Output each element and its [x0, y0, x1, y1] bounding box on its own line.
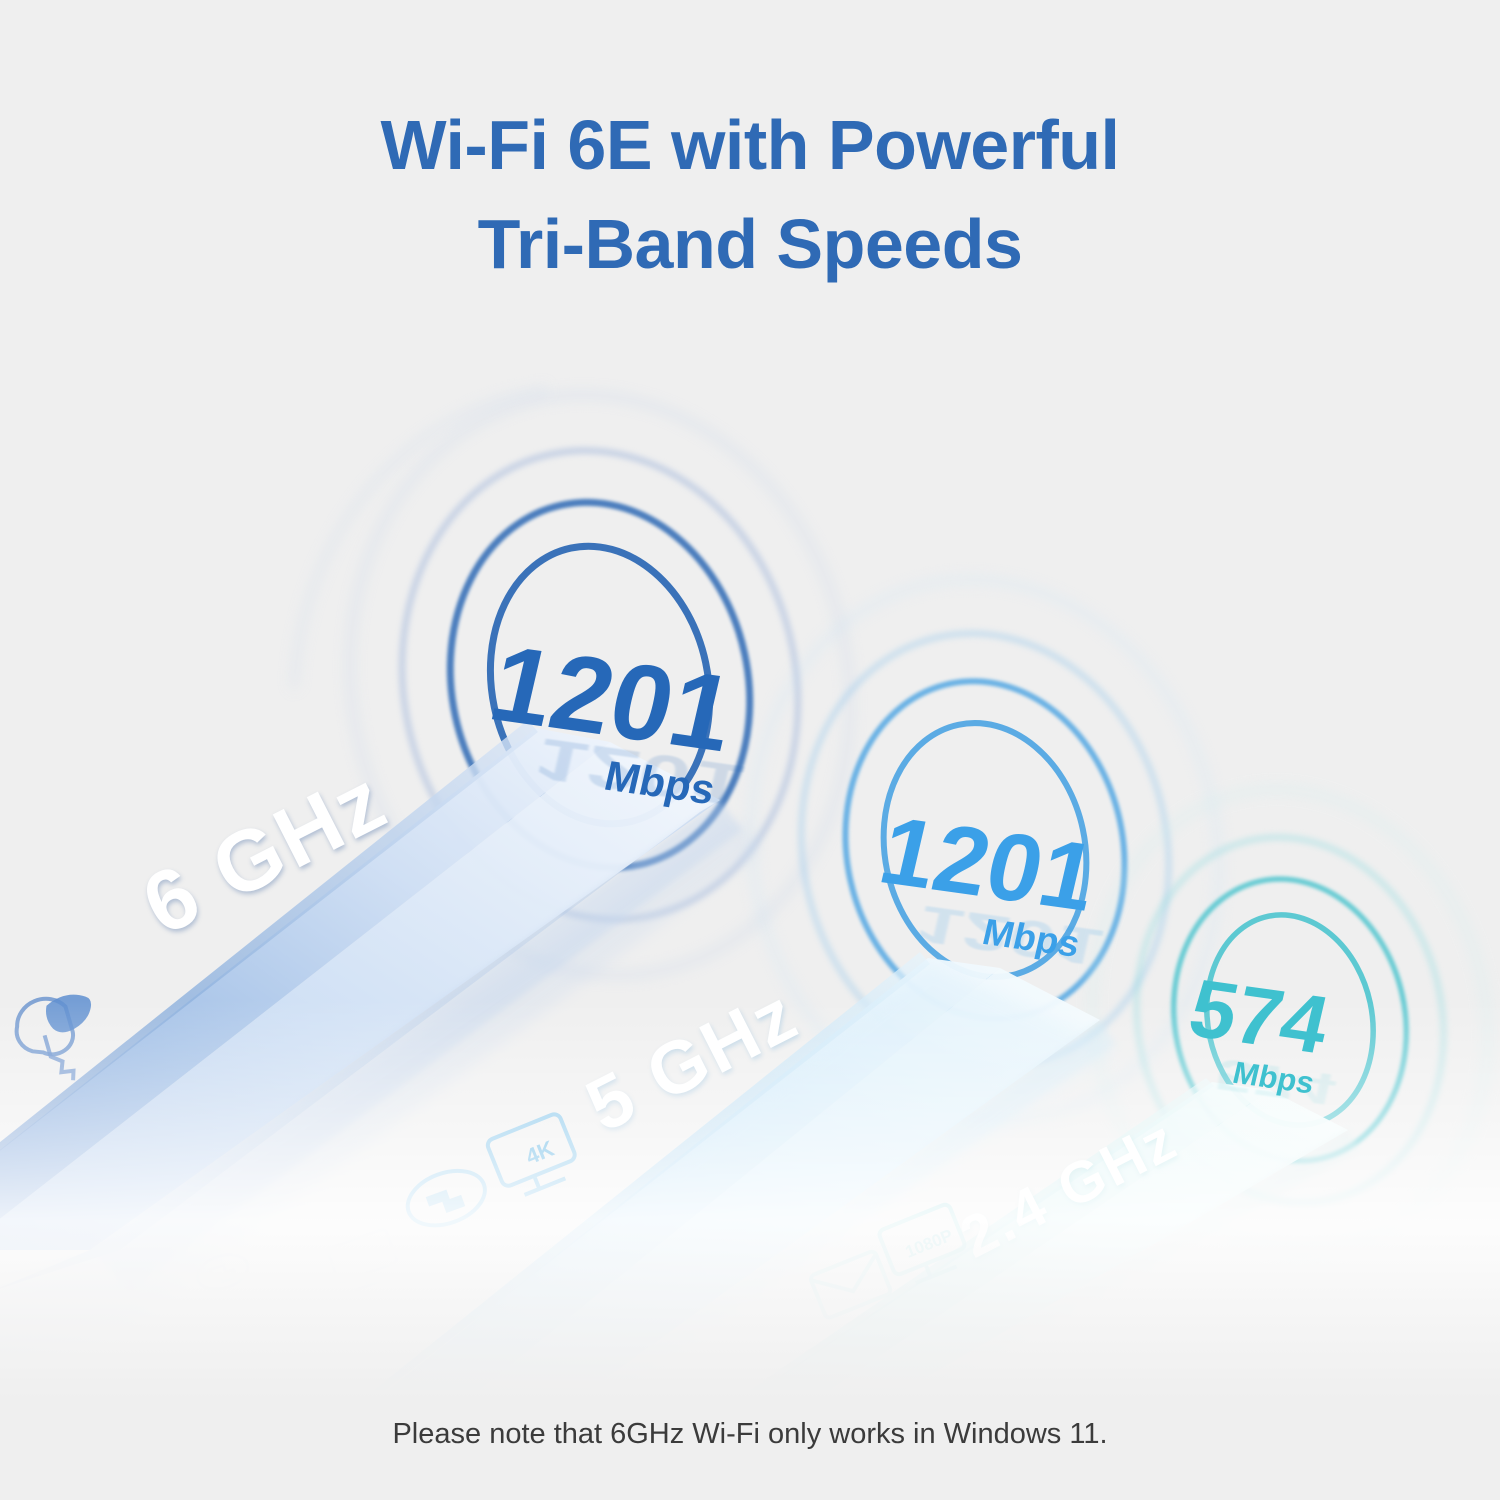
- page-title: Wi-Fi 6E with Powerful Tri-Band Speeds: [0, 96, 1500, 295]
- page-title-line-1: Wi-Fi 6E with Powerful: [0, 96, 1500, 195]
- speed-value-6ghz: 1201: [482, 632, 743, 766]
- page-title-line-2: Tri-Band Speeds: [0, 195, 1500, 294]
- product-feature-banner: Wi-Fi 6E with Powerful Tri-Band Speeds: [0, 0, 1500, 1500]
- footnote-text: Please note that 6GHz Wi-Fi only works i…: [0, 1418, 1500, 1451]
- speed-value-24ghz: 574: [1182, 970, 1335, 1065]
- speed-value-5ghz: 1201: [872, 805, 1104, 924]
- speed-readout-24ghz: 574 Mbps: [1174, 970, 1335, 1101]
